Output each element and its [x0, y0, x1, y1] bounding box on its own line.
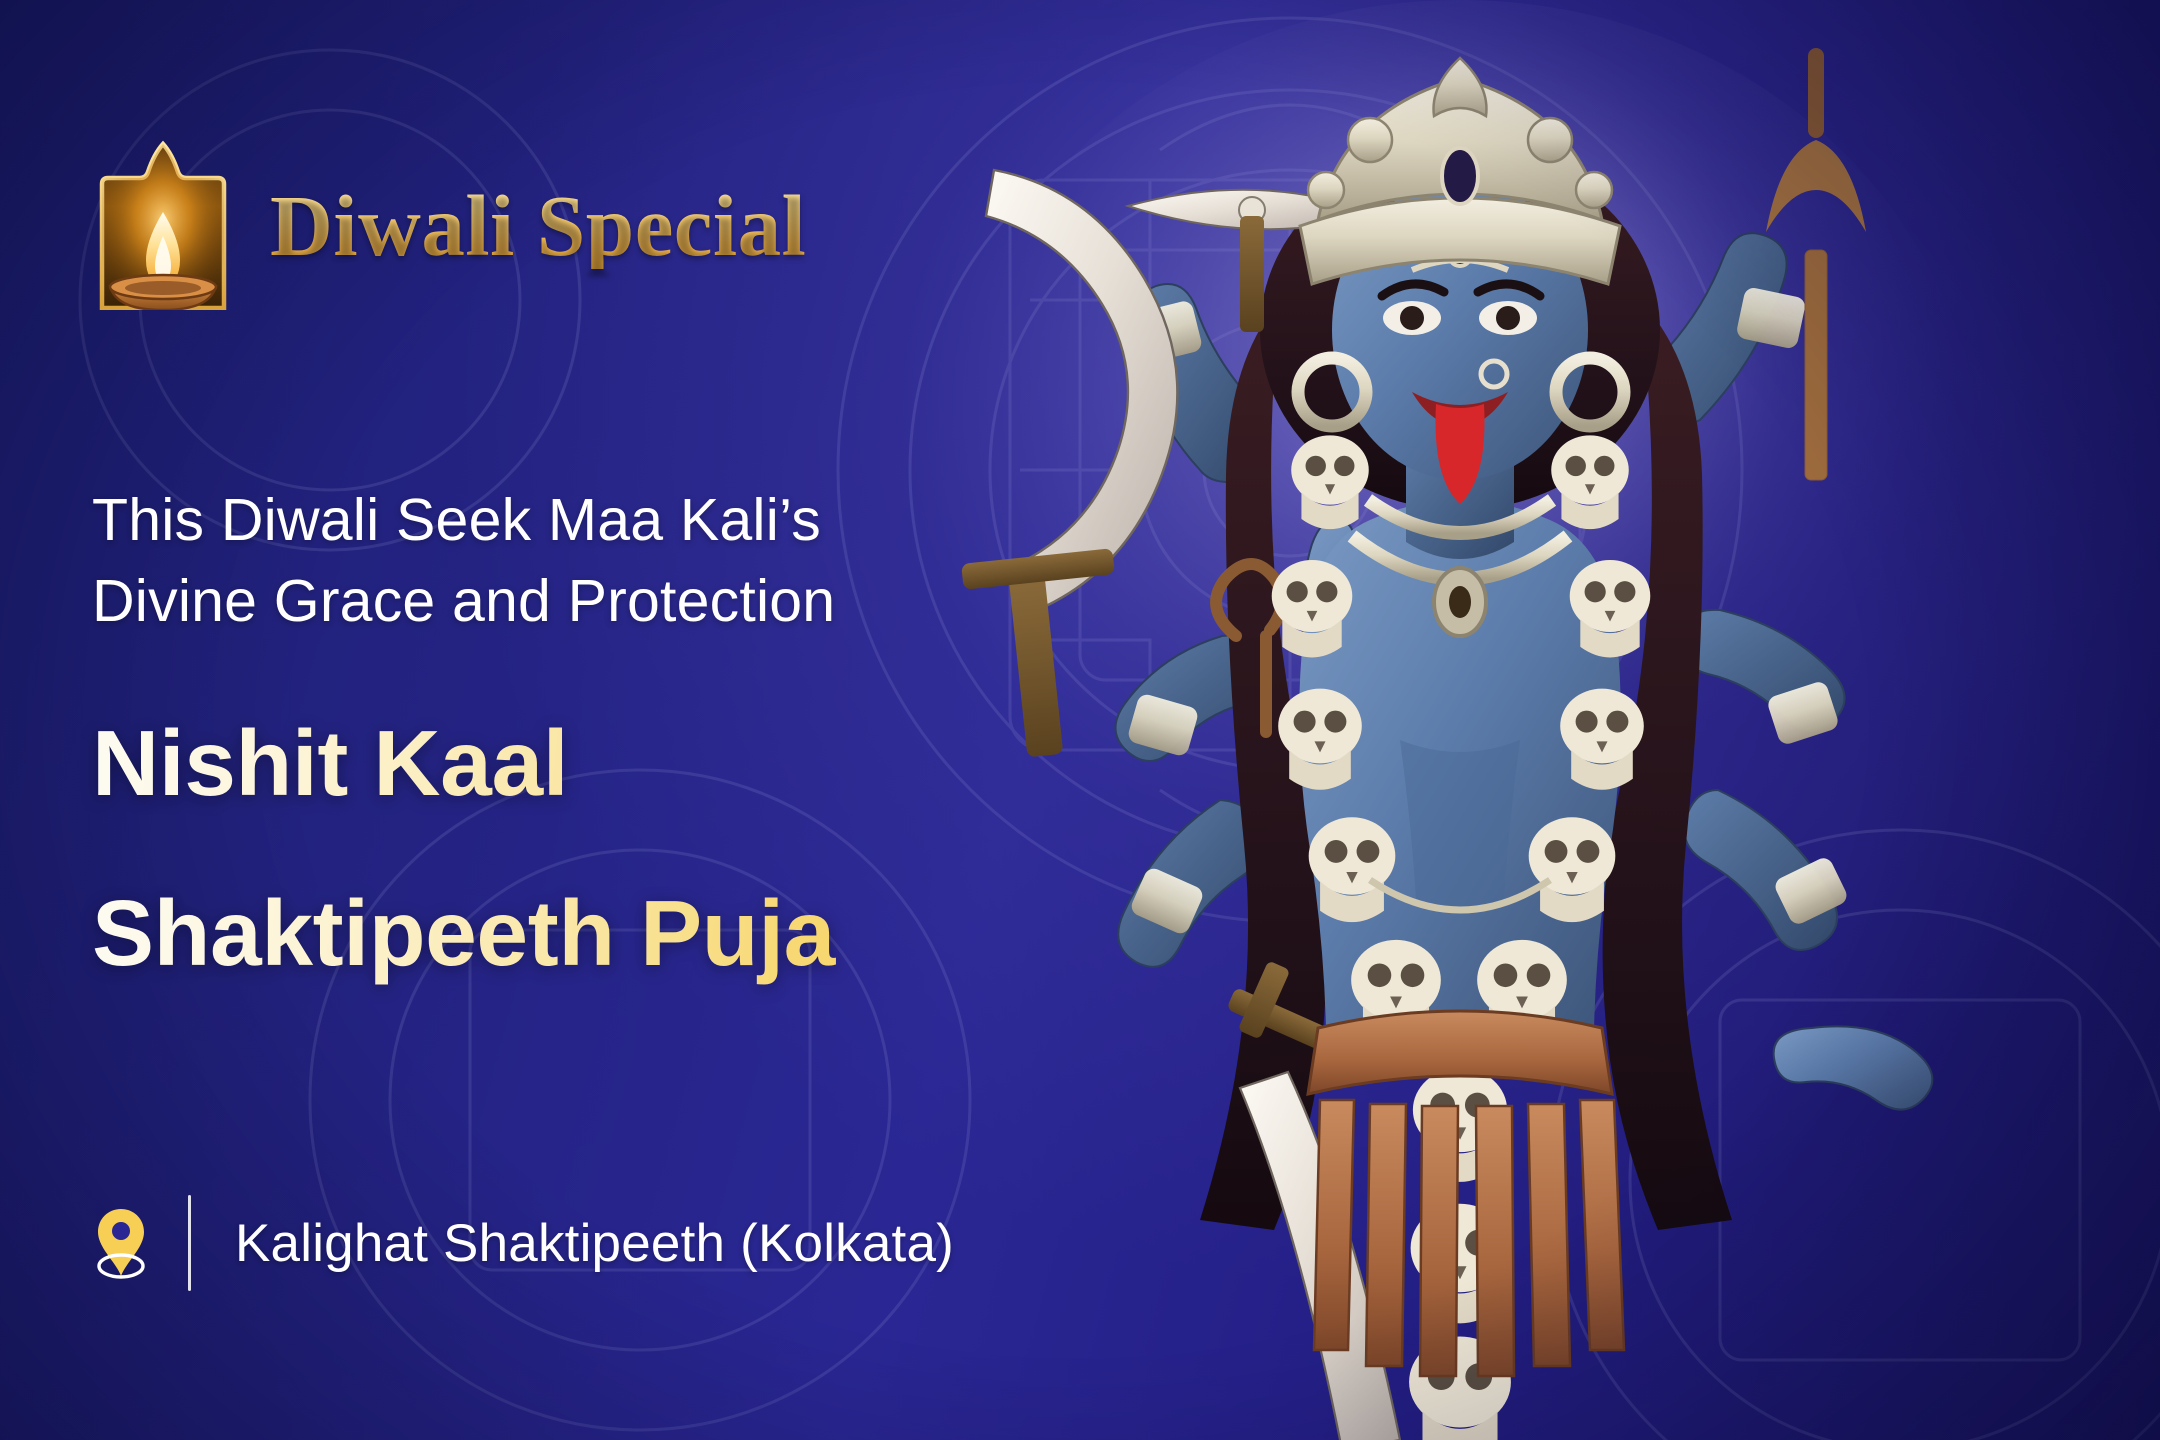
map-pin-icon: [92, 1206, 150, 1280]
headline-line-1: Nishit Kaal: [92, 700, 1042, 826]
content-column: Diwali Special This Diwali Seek Maa Kali…: [0, 0, 1030, 1440]
headline-line-2: Shaktipeeth Puja: [92, 870, 1042, 996]
diwali-puja-banner: Diwali Special This Diwali Seek Maa Kali…: [0, 0, 2160, 1440]
headline-block: Nishit Kaal Shaktipeeth Puja: [92, 700, 1042, 997]
location-row: Kalighat Shaktipeeth (Kolkata): [92, 1195, 954, 1291]
location-text: Kalighat Shaktipeeth (Kolkata): [235, 1213, 954, 1274]
subtitle-line-1: This Diwali Seek Maa Kali’s: [92, 480, 972, 561]
subtitle-line-2: Divine Grace and Protection: [92, 561, 972, 642]
location-divider: [188, 1195, 191, 1291]
maa-kali-artwork: [900, 0, 2160, 1440]
brand-lockup: Diwali Special: [92, 140, 806, 310]
subtitle-block: This Diwali Seek Maa Kali’s Divine Grace…: [92, 480, 972, 643]
diya-lamp-icon: [92, 140, 234, 310]
brand-title: Diwali Special: [270, 182, 806, 269]
